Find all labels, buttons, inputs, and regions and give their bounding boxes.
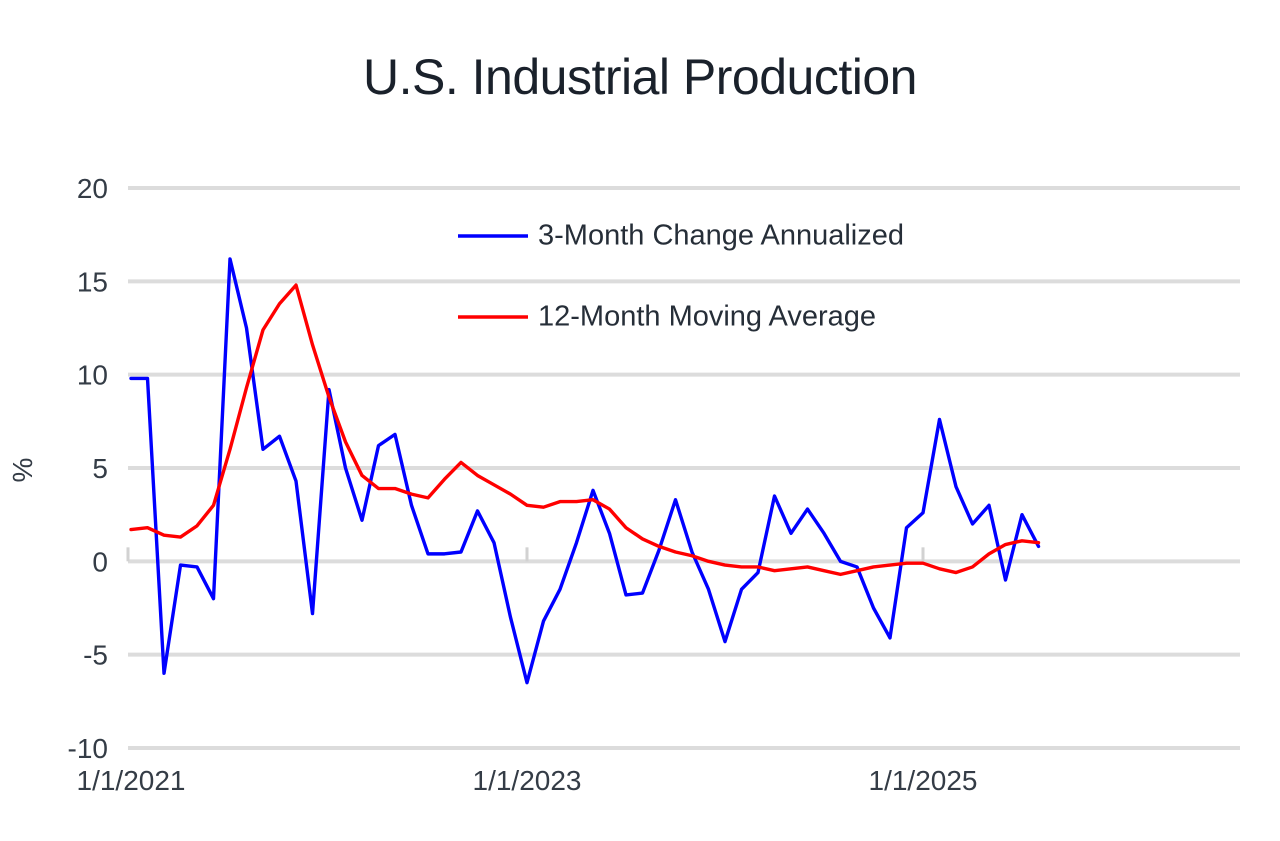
y-tick-label: 5 <box>92 453 108 484</box>
x-tick-label: 1/1/2023 <box>473 765 582 796</box>
x-axis-tick-labels: 1/1/20211/1/20231/1/2025 <box>77 765 978 796</box>
y-axis-tick-labels: 20151050-5-10 <box>68 173 108 764</box>
y-tick-label: -5 <box>83 640 108 671</box>
x-tick-label: 1/1/2021 <box>77 765 186 796</box>
legend-label-2[interactable]: 12-Month Moving Average <box>538 301 876 333</box>
x-tick-label: 1/1/2025 <box>869 765 978 796</box>
y-tick-label: 10 <box>77 360 108 391</box>
y-axis-title: % <box>7 458 38 483</box>
chart-plot-area: 20151050-5-10 1/1/20211/1/20231/1/2025 %… <box>0 0 1280 841</box>
x-tickmarks <box>128 547 923 561</box>
y-axis-title-text: % <box>7 458 38 483</box>
y-tick-label: 15 <box>77 266 108 297</box>
chart-legend[interactable]: 3-Month Change Annualized12-Month Moving… <box>458 220 904 333</box>
y-tick-label: -10 <box>68 733 108 764</box>
chart-container: U.S. Industrial Production 20151050-5-10… <box>0 0 1280 841</box>
legend-label-1[interactable]: 3-Month Change Annualized <box>538 220 904 252</box>
y-tick-label: 20 <box>77 173 108 204</box>
y-tick-label: 0 <box>92 546 108 577</box>
gridlines <box>128 188 1240 748</box>
